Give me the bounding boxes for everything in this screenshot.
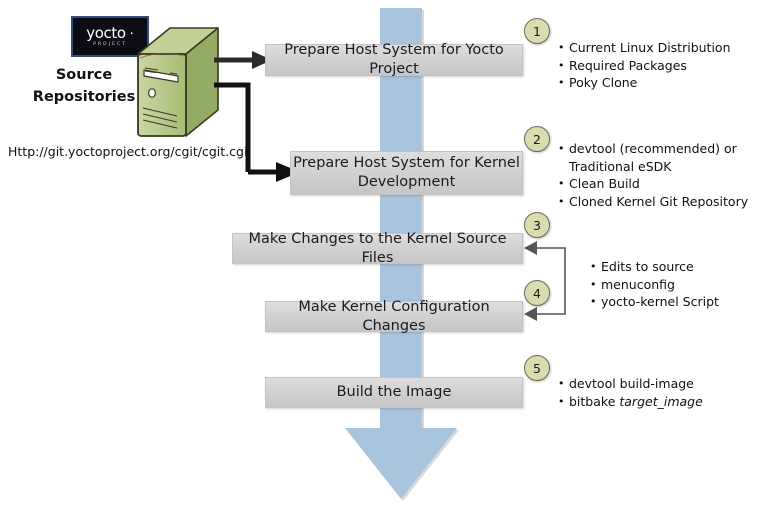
diagram-canvas: yocto · PROJECT	[0, 0, 769, 517]
annotation-item-bitbake: bitbake target_image	[569, 393, 703, 411]
step-circle-2-number: 2	[533, 132, 541, 147]
annotation-item: devtool (recommended) or	[569, 140, 748, 158]
annotation-bitbake-target: target_image	[619, 394, 702, 409]
process-box-step-1[interactable]: Prepare Host System for Yocto Project	[265, 44, 523, 76]
annotation-item: Poky Clone	[569, 74, 731, 92]
process-box-step-2-label-line2: Development	[358, 173, 456, 192]
process-box-step-5-label: Build the Image	[337, 383, 452, 402]
annotation-item-continuation: Traditional eSDK	[569, 158, 748, 176]
source-title-line1: Source	[26, 64, 142, 86]
step-circle-4: 4	[524, 280, 550, 306]
process-box-step-3[interactable]: Make Changes to the Kernel Source Files	[232, 233, 523, 264]
step-circle-5: 5	[524, 355, 550, 381]
annotation-item: devtool build-image	[569, 375, 703, 393]
step-circle-2: 2	[524, 126, 550, 152]
feedback-bracket-arrows	[518, 236, 578, 326]
process-box-step-2-label-line1: Prepare Host System for Kernel	[293, 154, 520, 173]
annotation-item: Required Packages	[569, 57, 731, 75]
step-circle-5-number: 5	[533, 361, 541, 376]
process-box-step-4[interactable]: Make Kernel Configuration Changes	[265, 301, 523, 332]
step-circle-3-number: 3	[533, 218, 541, 233]
process-box-step-3-label: Make Changes to the Kernel Source Files	[233, 230, 522, 268]
step-circle-4-number: 4	[533, 286, 541, 301]
step-circle-1-number: 1	[533, 24, 541, 39]
annotation-item: Current Linux Distribution	[569, 39, 731, 57]
annotations-step-1: Current Linux Distribution Required Pack…	[556, 39, 731, 92]
process-box-step-4-label: Make Kernel Configuration Changes	[266, 298, 522, 336]
annotation-item: menuconfig	[601, 276, 719, 294]
step-circle-3: 3	[524, 212, 550, 238]
annotations-step-5: devtool build-image bitbake target_image	[556, 375, 703, 410]
annotation-item: Cloned Kernel Git Repository	[569, 193, 748, 211]
annotation-item: Clean Build	[569, 175, 748, 193]
source-repositories-label: Source Repositories	[26, 64, 142, 108]
process-box-step-1-label: Prepare Host System for Yocto Project	[266, 41, 522, 79]
source-title-line2: Repositories	[26, 86, 142, 108]
annotation-bitbake-command: bitbake	[569, 394, 619, 409]
annotation-item: yocto-kernel Script	[601, 293, 719, 311]
process-box-step-2[interactable]: Prepare Host System for Kernel Developme…	[290, 151, 523, 195]
annotation-item: Edits to source	[601, 258, 719, 276]
annotations-step-2: devtool (recommended) or Traditional eSD…	[556, 140, 748, 210]
annotations-steps-3-4: Edits to source menuconfig yocto-kernel …	[588, 258, 719, 311]
logo-wordmark: yocto	[86, 26, 125, 41]
logo-subtitle: PROJECT	[93, 43, 127, 48]
step-circle-1: 1	[524, 18, 550, 44]
process-box-step-5[interactable]: Build the Image	[265, 377, 523, 408]
